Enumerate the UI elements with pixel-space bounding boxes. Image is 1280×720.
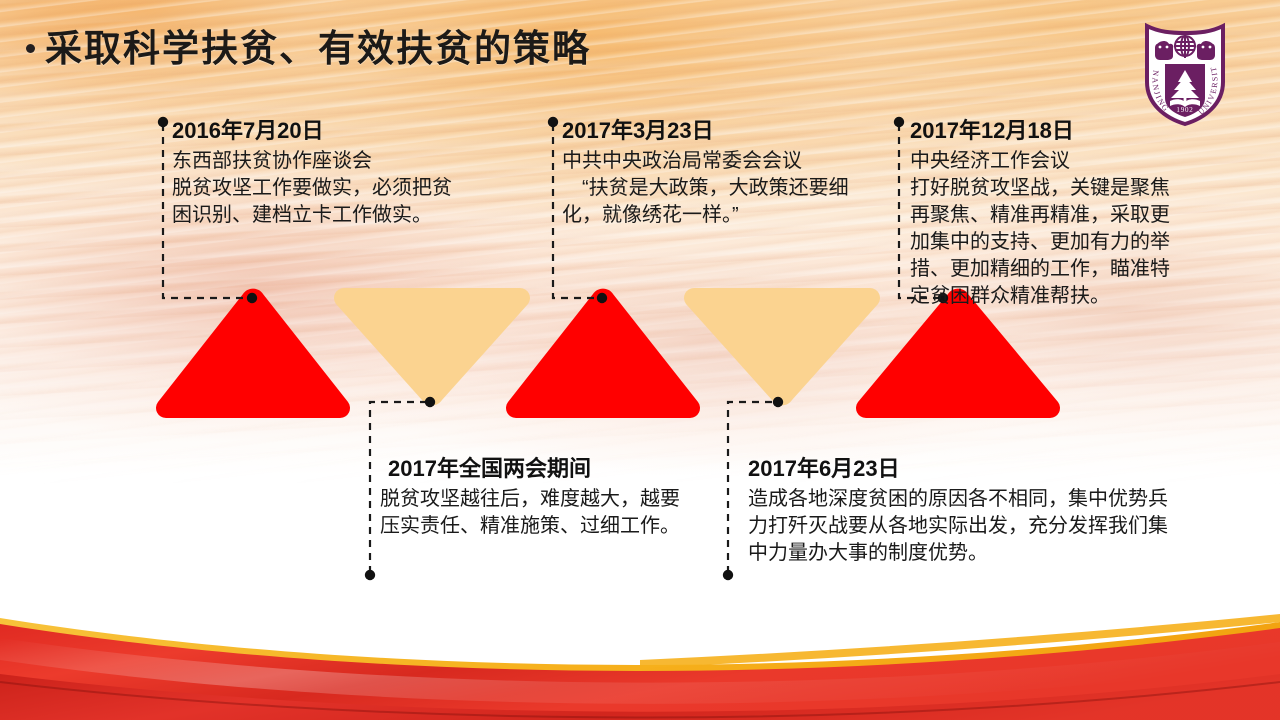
event-date: 2016年7月20日 <box>172 118 502 144</box>
event-detail: 中共中央政治局常委会会议 “扶贫是大政策，大政策还要细 化，就像绣花一样。” <box>562 148 892 229</box>
timeline-event-2: 2017年全国两会期间 脱贫攻坚越往后，难度越大，越要 压实责任、精准施策、过细… <box>380 456 720 540</box>
timeline-event-3: 2017年3月23日 中共中央政治局常委会会议 “扶贫是大政策，大政策还要细 化… <box>562 118 892 229</box>
timeline-event-1: 2016年7月20日 东西部扶贫协作座谈会 脱贫攻坚工作要做实，必须把贫 困识别… <box>172 118 502 229</box>
event-quote-line: 脱贫攻坚越往后，难度越大，越要 <box>380 486 720 513</box>
event-quote-line: 压实责任、精准施策、过细工作。 <box>380 513 720 540</box>
event-detail: 东西部扶贫协作座谈会 脱贫攻坚工作要做实，必须把贫 困识别、建档立卡工作做实。 <box>172 148 502 229</box>
event-occasion: 中央经济工作会议 <box>910 148 1210 175</box>
event-quote-line: 措、更加精细的工作，瞄准特 <box>910 256 1210 283</box>
event-detail: 脱贫攻坚越往后，难度越大，越要 压实责任、精准施策、过细工作。 <box>380 486 720 540</box>
event-quote-line: 加集中的支持、更加有力的举 <box>910 229 1210 256</box>
event-date: 2017年6月23日 <box>748 456 1228 482</box>
connector-endpoint-dot-5 <box>894 117 904 127</box>
event-quote-line: 困识别、建档立卡工作做实。 <box>172 202 502 229</box>
connector-apex-dot-1 <box>247 293 257 303</box>
event-quote-line: “扶贫是大政策，大政策还要细 <box>562 175 892 202</box>
event-quote-line: 化，就像绣花一样。” <box>562 202 892 229</box>
event-date: 2017年全国两会期间 <box>388 456 720 482</box>
event-occasion: 中共中央政治局常委会会议 <box>562 148 892 175</box>
event-quote-line: 造成各地深度贫困的原因各不相同，集中优势兵 <box>748 486 1228 513</box>
connector-endpoint-dot-1 <box>158 117 168 127</box>
event-quote-line: 打好脱贫攻坚战，关键是聚焦 <box>910 175 1210 202</box>
connector-apex-dot-3 <box>597 293 607 303</box>
connector-apex-dot-2 <box>425 397 435 407</box>
event-quote-line: 定贫困群众精准帮扶。 <box>910 283 1210 310</box>
event-date: 2017年3月23日 <box>562 118 892 144</box>
slide-canvas: 采取科学扶贫、有效扶贫的策略 <box>0 0 1280 720</box>
timeline-event-4: 2017年6月23日 造成各地深度贫困的原因各不相同，集中优势兵 力打歼灭战要从… <box>748 456 1228 567</box>
event-detail: 中央经济工作会议 打好脱贫攻坚战，关键是聚焦 再聚焦、精准再精准，采取更 加集中… <box>910 148 1210 310</box>
bottom-red-ribbon <box>0 556 1280 720</box>
event-detail: 造成各地深度贫困的原因各不相同，集中优势兵 力打歼灭战要从各地实际出发，充分发挥… <box>748 486 1228 567</box>
event-quote-line: 再聚焦、精准再精准，采取更 <box>910 202 1210 229</box>
connector-endpoint-dot-3 <box>548 117 558 127</box>
event-date: 2017年12月18日 <box>910 118 1210 144</box>
event-occasion: 东西部扶贫协作座谈会 <box>172 148 502 175</box>
timeline-event-5: 2017年12月18日 中央经济工作会议 打好脱贫攻坚战，关键是聚焦 再聚焦、精… <box>910 118 1210 310</box>
event-quote-line: 力打歼灭战要从各地实际出发，充分发挥我们集 <box>748 513 1228 540</box>
connector-apex-dot-4 <box>773 397 783 407</box>
event-quote-line: 脱贫攻坚工作要做实，必须把贫 <box>172 175 502 202</box>
